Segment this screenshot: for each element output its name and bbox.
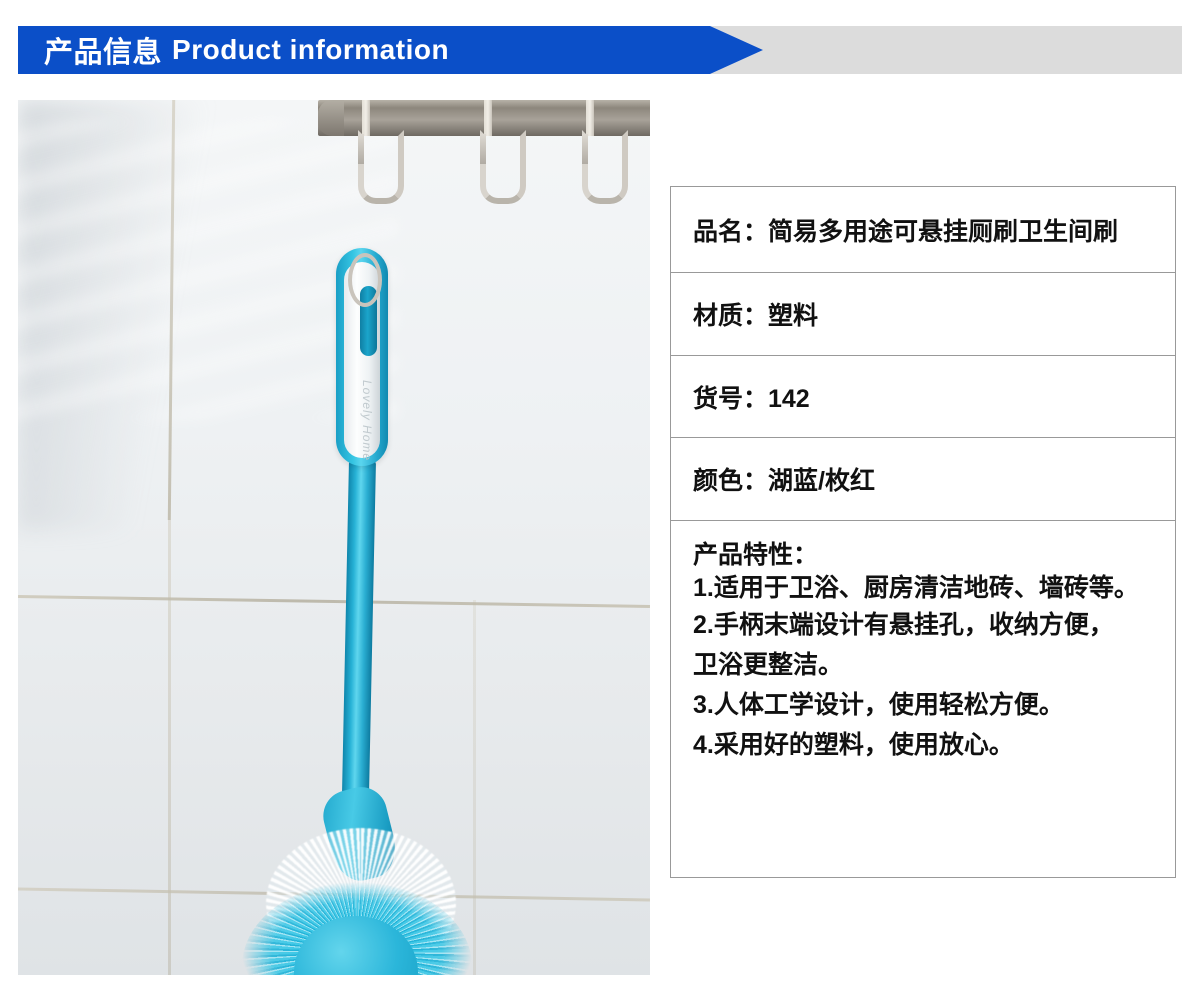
metal-hanging-ring (348, 253, 382, 307)
rail-hook (582, 130, 628, 204)
page-title: 产品信息 Product information (44, 26, 449, 74)
table-row-product-name: 品名：简易多用途可悬挂厕刷卫生间刷 (671, 187, 1175, 273)
feature-item-2: 2.手柄末端设计有悬挂孔，收纳方便， (693, 605, 1161, 645)
grout-line-vertical (473, 600, 476, 975)
features-title: 产品特性： (693, 539, 1161, 572)
table-row-material: 材质：塑料 (671, 273, 1175, 356)
rail-hook (358, 130, 404, 204)
product-information-page: 产品信息 Product information Lovely Home (0, 0, 1200, 981)
specification-table: 品名：简易多用途可悬挂厕刷卫生间刷 材质：塑料 货号：142 颜色：湖蓝/枚红 … (670, 186, 1176, 878)
grout-line-vertical (168, 520, 171, 975)
handle-logo-script: Lovely Home (350, 380, 374, 466)
feature-item-2-cont: 卫浴更整洁。 (693, 645, 1161, 685)
table-row-color: 颜色：湖蓝/枚红 (671, 438, 1175, 521)
section-banner: 产品信息 Product information (18, 26, 1182, 74)
table-row-item-number: 货号：142 (671, 356, 1175, 438)
table-row-features: 产品特性： 1.适用于卫浴、厨房清洁地砖、墙砖等。 2.手柄末端设计有悬挂孔，收… (671, 521, 1175, 879)
rail-hook (480, 130, 526, 204)
product-photo: Lovely Home (18, 100, 650, 975)
brush-head (242, 828, 472, 975)
feature-item-3: 3.人体工学设计，使用轻松方便。 (693, 685, 1161, 725)
brush-handle-grip: Lovely Home (336, 248, 388, 466)
page-title-cn: 产品信息 (44, 29, 162, 71)
feature-item-4: 4.采用好的塑料，使用放心。 (693, 725, 1161, 765)
feature-item-1: 1.适用于卫浴、厨房清洁地砖、墙砖等。 (693, 572, 1161, 605)
page-title-en: Product information (172, 34, 449, 66)
